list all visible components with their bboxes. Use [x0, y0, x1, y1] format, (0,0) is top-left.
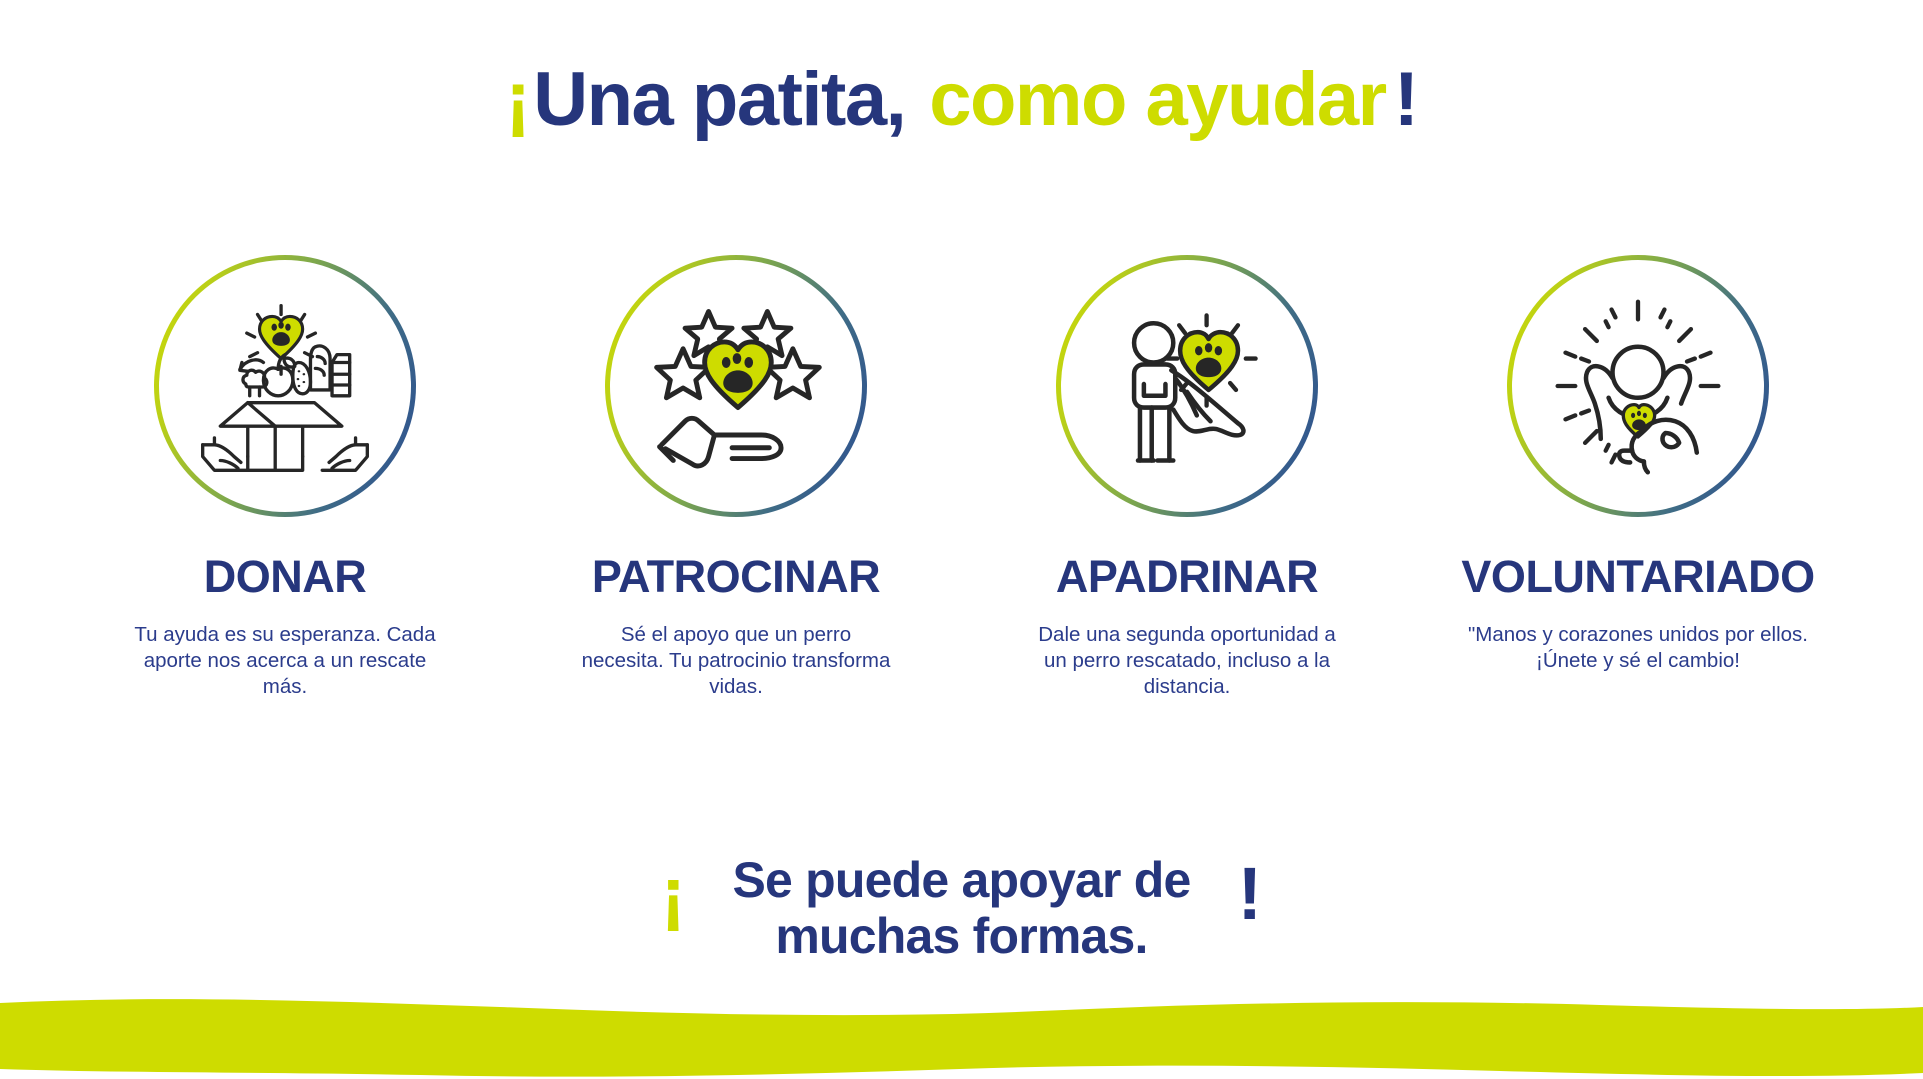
tagline-close-exclamation-icon: ! — [1238, 856, 1263, 931]
card-title-patrocinar: PATROCINAR — [592, 554, 880, 599]
card-title-voluntariado: VOLUNTARIADO — [1461, 554, 1814, 599]
footer-wave-banner — [0, 989, 1923, 1079]
icon-circle-apadrinar — [1056, 255, 1318, 517]
tagline-open-exclamation-icon: ¡ — [661, 856, 686, 931]
card-description-patrocinar: Sé el apoyo que un perro necesita. Tu pa… — [581, 622, 891, 701]
support-card-apadrinar[interactable]: APADRINAR Dale una segunda oportunidad a… — [962, 255, 1412, 701]
support-card-voluntariado[interactable]: VOLUNTARIADO "Manos y corazones unidos p… — [1413, 255, 1863, 674]
icon-circle-donar — [154, 255, 416, 517]
headline-part-lime: como ayudar — [929, 57, 1386, 142]
superhero-heart-icon — [1089, 288, 1285, 484]
icon-circle-patrocinar — [605, 255, 867, 517]
icon-circle-voluntariado — [1507, 255, 1769, 517]
headline-close-exclamation-icon: ! — [1394, 57, 1418, 142]
card-description-donar: Tu ayuda es su esperanza. Cada aporte no… — [130, 622, 440, 701]
poster-root: ¡Una patita,como ayudar! — [0, 0, 1923, 1079]
support-options-row: DONAR Tu ayuda es su esperanza. Cada apo… — [60, 255, 1863, 701]
support-card-patrocinar[interactable]: PATROCINAR Sé el apoyo que un perro nece… — [511, 255, 961, 701]
card-title-donar: DONAR — [204, 554, 367, 599]
wave-shape — [0, 989, 1923, 1079]
headline-open-exclamation-icon: ¡ — [505, 57, 529, 142]
person-dog-volunteer-icon — [1540, 288, 1736, 484]
card-description-apadrinar: Dale una segunda oportunidad a un perro … — [1032, 622, 1342, 701]
hand-stars-heart-icon — [638, 288, 834, 484]
card-title-apadrinar: APADRINAR — [1056, 554, 1318, 599]
card-description-voluntariado: "Manos y corazones unidos por ellos. ¡Ún… — [1448, 622, 1828, 674]
page-title: ¡Una patita,como ayudar! — [0, 62, 1923, 138]
tagline-text: Se puede apoyar de muchas formas. — [702, 852, 1222, 964]
headline-part-blue: Una patita, — [533, 57, 905, 142]
support-card-donar[interactable]: DONAR Tu ayuda es su esperanza. Cada apo… — [60, 255, 510, 701]
tagline: ¡ Se puede apoyar de muchas formas. ! — [0, 852, 1923, 964]
donation-box-icon — [187, 288, 383, 484]
